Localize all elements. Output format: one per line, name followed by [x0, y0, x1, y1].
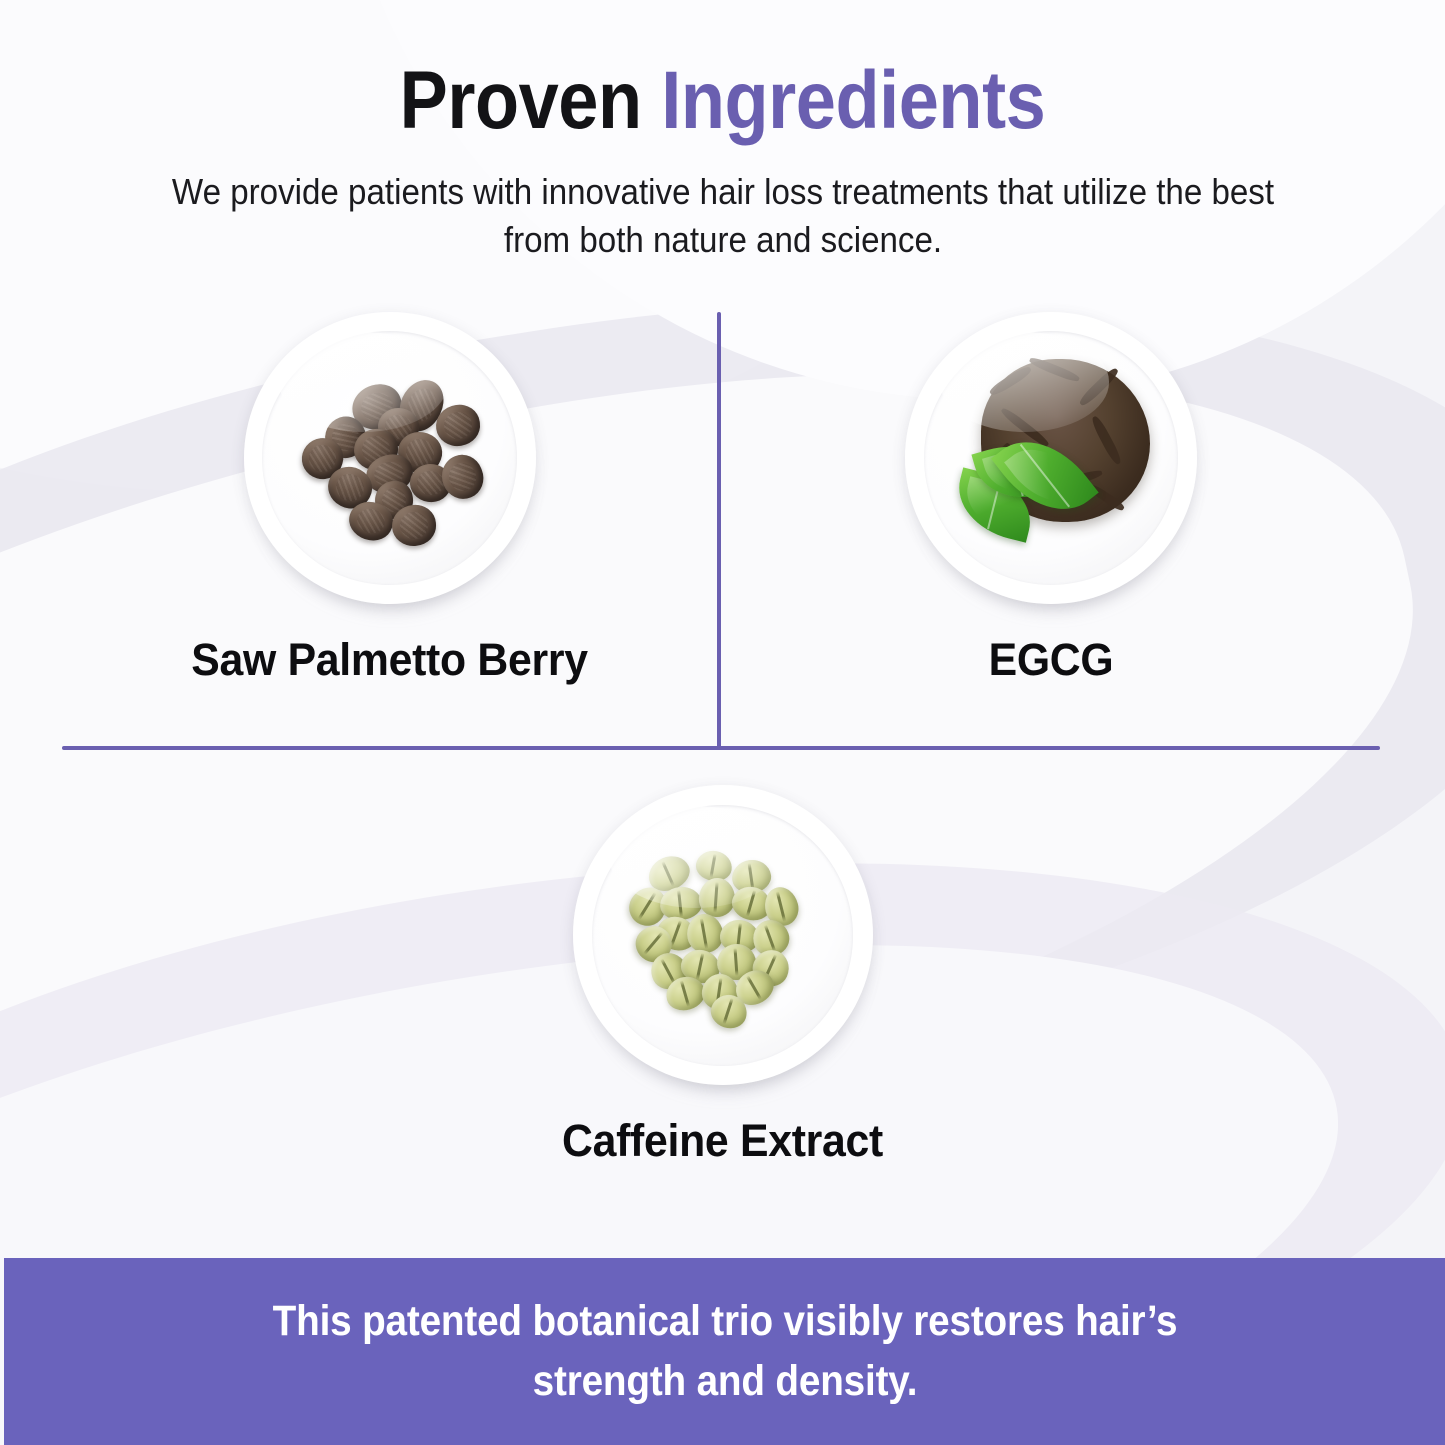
ingredient-cell-egcg: EGCG: [722, 312, 1380, 686]
title-word-ingredients: Ingredients: [661, 55, 1045, 146]
title-word-proven: Proven: [400, 55, 642, 146]
petri-dish-egcg: [905, 312, 1197, 604]
ingredient-label-saw-palmetto-berry: Saw Palmetto Berry: [78, 634, 700, 686]
petri-dish-caffeine: [573, 785, 873, 1085]
ingredient-label-egcg: EGCG: [738, 634, 1363, 686]
green-coffee-beans: [573, 785, 873, 1085]
ingredients-infographic: Proven Ingredients We provide patients w…: [0, 0, 1445, 1445]
leaf-vein: [1020, 444, 1070, 507]
petri-dish-saw-palmetto: [244, 312, 536, 604]
green-tea-contents: [905, 312, 1197, 604]
saw-palmetto-berries: [244, 312, 536, 604]
ingredient-cell-caffeine-extract: Caffeine Extract: [395, 785, 1050, 1167]
header: Proven Ingredients We provide patients w…: [0, 0, 1445, 264]
vertical-divider: [717, 312, 721, 748]
berry-icon: [391, 503, 438, 547]
banner-text: This patented botanical trio visibly res…: [194, 1292, 1256, 1411]
page-title: Proven Ingredients: [87, 58, 1359, 144]
page-subtitle: We provide patients with innovative hair…: [138, 168, 1306, 264]
horizontal-divider: [62, 746, 1380, 750]
coffee-bean-icon: [697, 877, 736, 918]
ingredient-label-caffeine-extract: Caffeine Extract: [411, 1115, 1033, 1167]
bottom-banner: This patented botanical trio visibly res…: [4, 1258, 1445, 1445]
ingredient-cell-saw-palmetto-berry: Saw Palmetto Berry: [62, 312, 717, 686]
